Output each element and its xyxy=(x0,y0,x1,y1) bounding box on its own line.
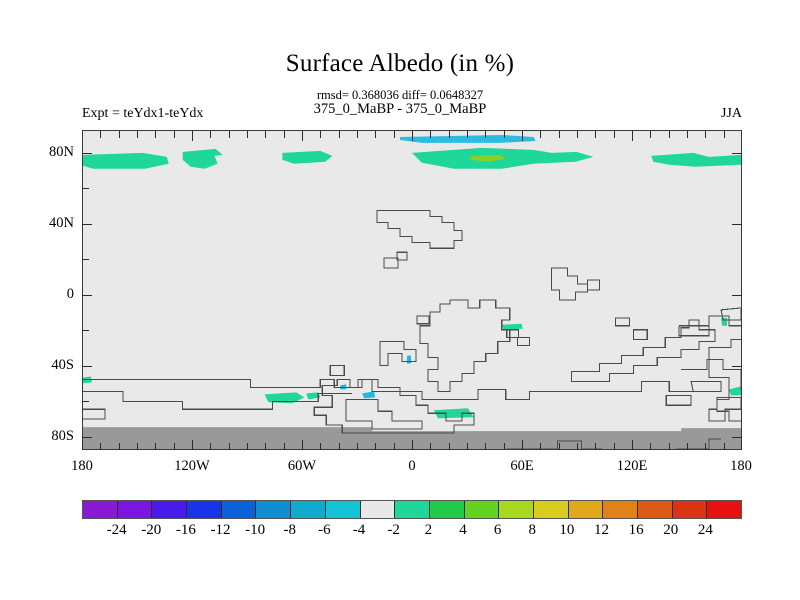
x-tick-minor xyxy=(430,443,431,450)
y-tick-0-right xyxy=(732,295,742,296)
x-tick-120w xyxy=(192,440,193,450)
x-tick-minor xyxy=(284,443,285,450)
x-tick-minor xyxy=(724,443,725,450)
missing-data-band-step xyxy=(83,427,372,432)
x-tick-minor xyxy=(559,443,560,450)
y-tick-80n xyxy=(82,153,92,154)
x-tick-top xyxy=(174,131,175,138)
y-axis-label-40s: 40S xyxy=(51,357,74,374)
y-axis-label-0: 0 xyxy=(67,286,74,303)
x-tick-top xyxy=(357,131,358,138)
x-tick-top xyxy=(320,131,321,138)
colorbar-swatch-1 xyxy=(118,501,153,518)
colorbar-swatch-14 xyxy=(569,501,604,518)
x-axis-label-60w: 60W xyxy=(288,458,316,475)
y-tick-minor xyxy=(82,401,89,402)
colorbar-tick-6: 6 xyxy=(494,522,502,539)
colorbar-tick--10: -10 xyxy=(245,522,265,539)
x-tick-minor xyxy=(705,443,706,450)
y-tick-minor xyxy=(82,188,89,189)
x-tick-top xyxy=(669,131,670,138)
colorbar-tick--4: -4 xyxy=(353,522,366,539)
colorbar xyxy=(82,500,742,519)
x-tick-top xyxy=(650,131,651,138)
southern-green-patches xyxy=(83,318,741,418)
x-tick-minor xyxy=(394,443,395,450)
colorbar-swatch-11 xyxy=(465,501,500,518)
experiment-label: Expt = teYdx1-teYdx xyxy=(82,106,203,122)
x-axis-label-0: 0 xyxy=(408,458,415,475)
x-tick-minor xyxy=(137,443,138,450)
x-tick-top xyxy=(595,131,596,138)
x-tick-top xyxy=(504,131,505,138)
x-tick-top xyxy=(155,131,156,138)
colorbar-swatch-3 xyxy=(187,501,222,518)
colorbar-tick-12: 12 xyxy=(594,522,609,539)
x-tick-180e xyxy=(741,440,742,450)
x-tick-minor xyxy=(375,443,376,450)
x-tick-minor xyxy=(247,443,248,450)
x-tick-top xyxy=(284,131,285,138)
missing-data-band-step2 xyxy=(681,428,741,432)
x-tick-minor xyxy=(210,443,211,450)
zero-contours xyxy=(83,211,741,450)
colorbar-tick-16: 16 xyxy=(629,522,644,539)
arctic-green-patches xyxy=(83,148,741,169)
x-tick-top xyxy=(705,131,706,138)
page-title: Surface Albedo (in %) xyxy=(0,50,800,78)
colorbar-swatch-8 xyxy=(361,501,396,518)
x-tick-top xyxy=(577,131,578,138)
x-axis-label-180e: 180 xyxy=(730,458,752,475)
y-tick-80s-right xyxy=(732,437,742,438)
x-tick-top xyxy=(430,131,431,138)
y-axis-label-80n: 80N xyxy=(49,144,74,161)
colorbar-tick-8: 8 xyxy=(528,522,536,539)
x-tick-minor xyxy=(265,443,266,450)
season-label: JJA xyxy=(721,106,742,122)
x-tick-60e xyxy=(522,440,523,450)
y-tick-minor xyxy=(82,259,89,260)
colorbar-swatch-17 xyxy=(673,501,708,518)
colorbar-swatch-16 xyxy=(638,501,673,518)
x-tick-minor xyxy=(467,443,468,450)
map-contour-canvas xyxy=(83,131,741,449)
x-tick-top xyxy=(449,131,450,138)
x-tick-minor xyxy=(320,443,321,450)
map-plot-area xyxy=(82,130,742,450)
x-tick-minor xyxy=(357,443,358,450)
x-tick-minor xyxy=(485,443,486,450)
x-tick-top xyxy=(540,131,541,138)
x-tick-top xyxy=(210,131,211,138)
x-tick-minor xyxy=(614,443,615,450)
x-tick-top-major xyxy=(192,131,193,141)
colorbar-tick-labels: -24-20-16-12-10-8-6-4-224681012162024 xyxy=(82,522,742,542)
colorbar-tick-2: 2 xyxy=(425,522,433,539)
y-tick-80n-right xyxy=(732,153,742,154)
x-tick-top xyxy=(247,131,248,138)
colorbar-tick--12: -12 xyxy=(211,522,231,539)
x-tick-top xyxy=(339,131,340,138)
colorbar-swatch-18 xyxy=(707,501,741,518)
x-tick-0 xyxy=(412,440,413,450)
x-tick-180w xyxy=(82,440,83,450)
x-tick-top xyxy=(229,131,230,138)
x-tick-minor xyxy=(504,443,505,450)
x-tick-minor xyxy=(687,443,688,450)
colorbar-swatch-10 xyxy=(430,501,465,518)
x-tick-top xyxy=(467,131,468,138)
x-tick-minor xyxy=(339,443,340,450)
x-tick-top xyxy=(119,131,120,138)
x-tick-top xyxy=(100,131,101,138)
y-tick-0 xyxy=(82,295,92,296)
colorbar-tick--24: -24 xyxy=(107,522,127,539)
colorbar-tick--16: -16 xyxy=(176,522,196,539)
x-tick-top xyxy=(614,131,615,138)
colorbar-swatch-13 xyxy=(534,501,569,518)
colorbar-swatch-6 xyxy=(291,501,326,518)
x-tick-60w xyxy=(302,440,303,450)
x-tick-minor xyxy=(155,443,156,450)
x-tick-top xyxy=(375,131,376,138)
y-tick-40n-right xyxy=(732,224,742,225)
x-tick-top xyxy=(724,131,725,138)
x-tick-top-major xyxy=(412,131,413,141)
colorbar-tick-20: 20 xyxy=(663,522,678,539)
colorbar-tick--8: -8 xyxy=(284,522,297,539)
x-tick-minor xyxy=(119,443,120,450)
colorbar-swatch-4 xyxy=(222,501,257,518)
colorbar-tick-10: 10 xyxy=(559,522,574,539)
colorbar-swatch-2 xyxy=(152,501,187,518)
x-tick-minor xyxy=(669,443,670,450)
colorbar-tick--6: -6 xyxy=(318,522,331,539)
colorbar-tick--20: -20 xyxy=(141,522,161,539)
colorbar-swatch-15 xyxy=(603,501,638,518)
y-tick-40n xyxy=(82,224,92,225)
x-tick-top xyxy=(394,131,395,138)
x-tick-minor xyxy=(577,443,578,450)
x-tick-minor xyxy=(100,443,101,450)
colorbar-swatch-9 xyxy=(395,501,430,518)
colorbar-swatch-7 xyxy=(326,501,361,518)
colorbar-swatch-0 xyxy=(83,501,118,518)
y-tick-minor xyxy=(82,330,89,331)
x-axis-label-180w: 180 xyxy=(71,458,93,475)
y-tick-40s-right xyxy=(732,366,742,367)
x-tick-top-major xyxy=(302,131,303,141)
x-tick-minor xyxy=(650,443,651,450)
colorbar-swatch-12 xyxy=(499,501,534,518)
colorbar-swatch-5 xyxy=(256,501,291,518)
x-tick-minor xyxy=(540,443,541,450)
x-tick-minor xyxy=(449,443,450,450)
x-tick-120e xyxy=(632,440,633,450)
x-tick-top xyxy=(485,131,486,138)
y-axis-label-40n: 40N xyxy=(49,215,74,232)
colorbar-tick--2: -2 xyxy=(387,522,400,539)
x-axis-label-120w: 120W xyxy=(174,458,209,475)
x-tick-top xyxy=(687,131,688,138)
x-tick-top xyxy=(265,131,266,138)
colorbar-tick-24: 24 xyxy=(698,522,713,539)
x-tick-minor xyxy=(595,443,596,450)
x-tick-top xyxy=(137,131,138,138)
x-tick-minor xyxy=(174,443,175,450)
y-axis-label-80s: 80S xyxy=(51,428,74,445)
y-tick-40s xyxy=(82,366,92,367)
y-tick-80s xyxy=(82,437,92,438)
x-axis-label-60e: 60E xyxy=(510,458,533,475)
x-tick-minor xyxy=(229,443,230,450)
x-axis-label-120e: 120E xyxy=(617,458,648,475)
colorbar-tick-4: 4 xyxy=(459,522,467,539)
x-tick-top-major xyxy=(632,131,633,141)
x-tick-top-major xyxy=(522,131,523,141)
x-tick-top xyxy=(559,131,560,138)
